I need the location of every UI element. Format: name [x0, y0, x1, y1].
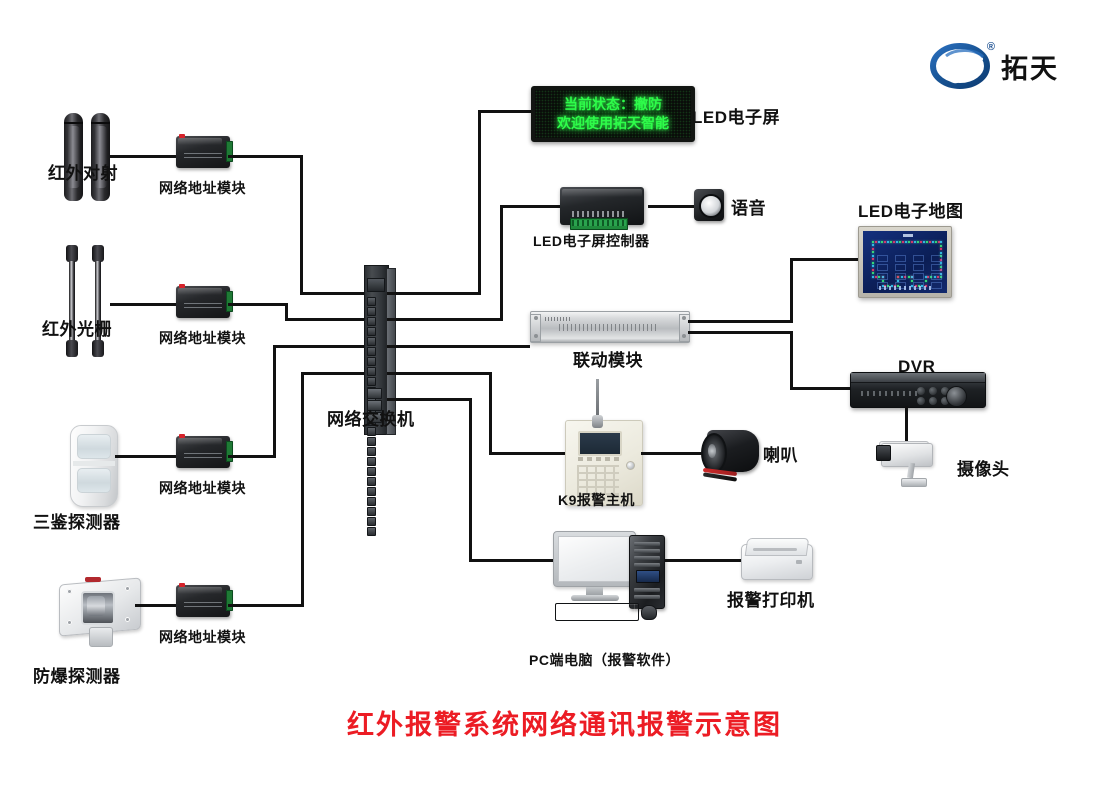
registered-mark: ® — [987, 41, 995, 53]
pir-detector-device — [70, 425, 118, 507]
brand-logo: ® 拓天 — [930, 43, 1059, 89]
wire-switch-to-pc-h1 — [387, 398, 472, 401]
wire-module3-to-switch — [273, 345, 366, 348]
wire-module1-right — [228, 155, 303, 158]
wire-linkage-to-dvr-h1 — [688, 331, 793, 334]
network-address-module-1-label: 网络地址模块 — [159, 178, 246, 198]
network-address-module-2 — [176, 286, 230, 318]
dvr-device — [850, 372, 986, 408]
wire-k9-to-siren — [641, 452, 703, 455]
wire-ledctrl-to-voice — [648, 205, 696, 208]
diagram-canvas: ® 拓天 红外对射 网络地址模块 红外光栅 网络地址模块 三鉴探测器 网络地址模… — [0, 0, 1105, 800]
wire-to-ledctrl — [500, 205, 560, 208]
pc-device — [553, 531, 683, 617]
led-screen-label: LED电子屏 — [692, 103, 780, 128]
network-address-module-1 — [176, 136, 230, 168]
wire-module1-to-switch — [300, 292, 366, 295]
network-address-module-3-label: 网络地址模块 — [159, 478, 246, 498]
wire-module2-right — [228, 303, 288, 306]
wire-pir-to-module3 — [115, 455, 176, 458]
network-address-module-2-label: 网络地址模块 — [159, 328, 246, 348]
wire-to-k9 — [489, 452, 565, 455]
wire-switch-to-linkage — [387, 345, 530, 348]
ir-beam-label: 红外对射 — [48, 159, 118, 184]
brand-name: 拓天 — [1001, 47, 1059, 86]
wire-switch-to-ledscreen-v — [478, 110, 481, 295]
network-switch-label: 网络交换机 — [327, 405, 415, 430]
k9-alarm-host-label: K9报警主机 — [558, 490, 635, 510]
printer-label: 报警打印机 — [727, 586, 815, 611]
wire-grating-to-module2 — [110, 303, 176, 306]
network-address-module-4-label: 网络地址模块 — [159, 627, 246, 647]
wire-module4-to-switch — [301, 372, 366, 375]
explosionproof-detector-label: 防爆探测器 — [33, 662, 121, 687]
wire-module4-right — [228, 604, 304, 607]
printer-device — [741, 538, 811, 580]
wire-exd-to-module4 — [135, 604, 176, 607]
wire-pc-to-printer — [665, 559, 743, 562]
led-electronic-map-device — [858, 226, 952, 298]
wire-linkage-to-dvr-v — [790, 331, 793, 390]
wire-beam-to-module1 — [110, 155, 176, 158]
siren-speaker-device — [699, 430, 761, 476]
led-screen-line-1: 当前状态：撤防 — [564, 95, 662, 114]
camera-label: 摄像头 — [957, 455, 1010, 480]
wire-dvr-to-camera — [905, 406, 908, 443]
wire-to-ledscreen — [478, 110, 531, 113]
led-screen-line-2: 欢迎使用拓天智能 — [557, 114, 669, 133]
network-address-module-3 — [176, 436, 230, 468]
wire-module1-down — [300, 155, 303, 295]
wire-switch-to-pc-v — [469, 398, 472, 561]
siren-label: 喇叭 — [763, 441, 798, 466]
wire-switch-to-ledctrl-h1 — [387, 318, 503, 321]
led-controller-label: LED电子屏控制器 — [533, 231, 650, 251]
wire-module4-up — [301, 372, 304, 606]
voice-speaker-device — [694, 189, 724, 221]
wire-switch-to-k9-h1 — [387, 372, 492, 375]
voice-label: 语音 — [731, 194, 766, 219]
led-text-screen: 当前状态：撤防 欢迎使用拓天智能 — [531, 86, 695, 142]
wire-to-pc — [469, 559, 553, 562]
led-map-label: LED电子地图 — [858, 197, 964, 222]
wire-to-dvr — [790, 387, 852, 390]
ir-grating-label: 红外光栅 — [42, 315, 112, 340]
wire-linkage-to-ledmap-h1 — [688, 320, 793, 323]
explosionproof-detector-device — [55, 575, 145, 647]
wire-switch-to-ledctrl-v — [500, 205, 503, 321]
wire-module3-up — [273, 345, 276, 457]
wire-module2-to-switch — [285, 318, 366, 321]
network-address-module-4 — [176, 585, 230, 617]
linkage-module-label: 联动模块 — [573, 346, 643, 371]
diagram-title: 红外报警系统网络通讯报警示意图 — [347, 703, 782, 742]
led-controller-device — [560, 187, 644, 225]
wire-module3-right — [228, 455, 276, 458]
camera-device — [875, 441, 941, 487]
wire-linkage-to-ledmap-v — [790, 258, 793, 322]
wire-switch-to-ledscreen-h1 — [387, 292, 481, 295]
wire-to-ledmap — [790, 258, 860, 261]
wire-switch-to-k9-v — [489, 372, 492, 454]
pir-detector-label: 三鉴探测器 — [33, 508, 121, 533]
linkage-module-device — [530, 311, 690, 343]
pc-label: PC端电脑（报警软件） — [529, 650, 680, 670]
tuotian-logo-icon: ® — [930, 43, 992, 89]
